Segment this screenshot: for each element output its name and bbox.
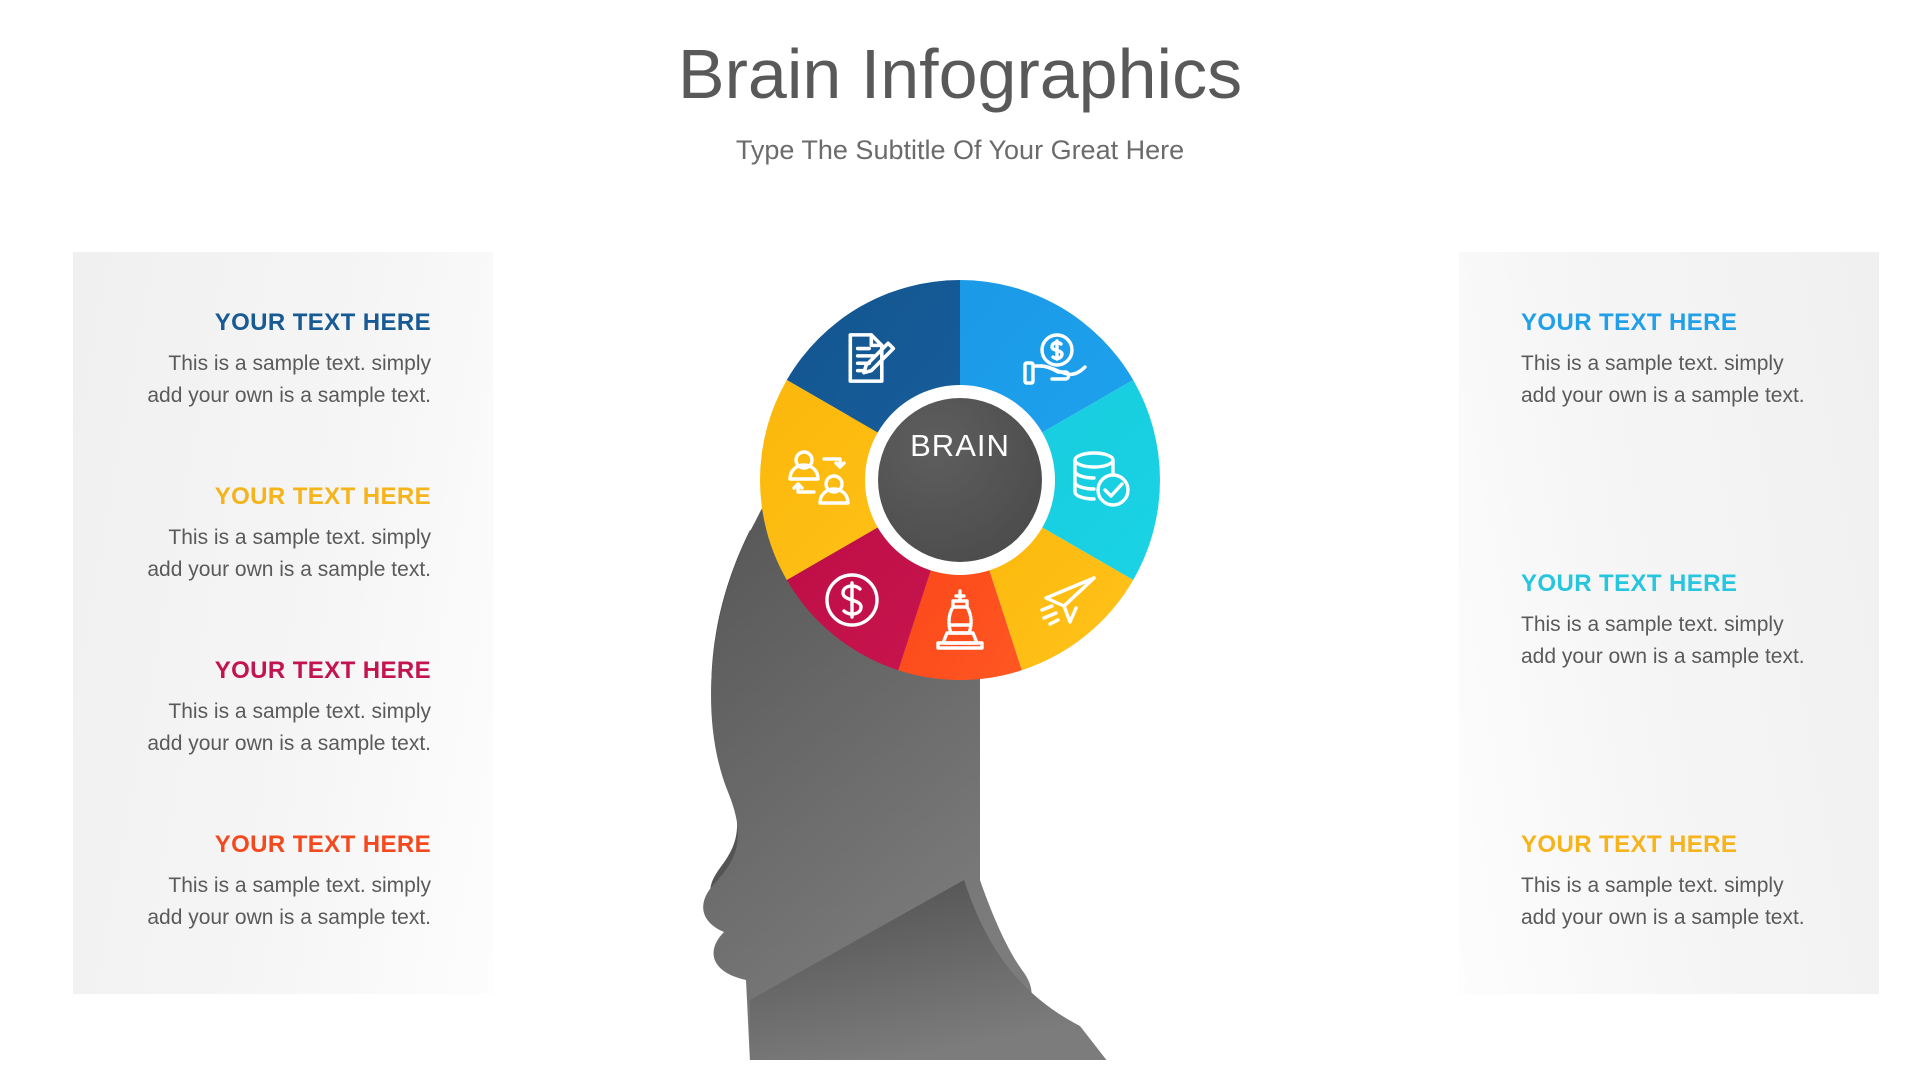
list-item[interactable]: YOUR TEXT HERE This is a sample text. si…	[73, 832, 493, 934]
entry-body: This is a sample text. simply add your o…	[73, 348, 431, 412]
list-item[interactable]: YOUR TEXT HERE This is a sample text. si…	[73, 310, 493, 412]
entry-body-line: This is a sample text. simply	[73, 348, 431, 380]
entry-body: This is a sample text. simply add your o…	[1521, 870, 1879, 934]
right-text-panel: YOUR TEXT HERE This is a sample text. si…	[1459, 252, 1879, 994]
entry-body-line: This is a sample text. simply	[73, 522, 431, 554]
list-item[interactable]: YOUR TEXT HERE This is a sample text. si…	[1459, 310, 1879, 412]
left-text-panel: YOUR TEXT HERE This is a sample text. si…	[73, 252, 493, 994]
slide-canvas: Brain Infographics Type The Subtitle Of …	[0, 0, 1920, 1080]
entry-heading: YOUR TEXT HERE	[1521, 310, 1879, 336]
entry-heading: YOUR TEXT HERE	[73, 484, 431, 510]
entry-heading: YOUR TEXT HERE	[1521, 571, 1879, 597]
entry-heading: YOUR TEXT HERE	[73, 658, 431, 684]
list-item[interactable]: YOUR TEXT HERE This is a sample text. si…	[1459, 571, 1879, 673]
brain-wheel-graphic: BRAIN	[560, 240, 1360, 1060]
entry-body-line: This is a sample text. simply	[1521, 870, 1879, 902]
entry-body-line: add your own is a sample text.	[73, 902, 431, 934]
list-item[interactable]: YOUR TEXT HERE This is a sample text. si…	[73, 484, 493, 586]
entry-body: This is a sample text. simply add your o…	[1521, 348, 1879, 412]
entry-heading: YOUR TEXT HERE	[1521, 832, 1879, 858]
entry-heading: YOUR TEXT HERE	[73, 832, 431, 858]
entry-body-line: add your own is a sample text.	[73, 380, 431, 412]
list-item[interactable]: YOUR TEXT HERE This is a sample text. si…	[73, 658, 493, 760]
entry-body-line: This is a sample text. simply	[1521, 609, 1879, 641]
slide-header: Brain Infographics Type The Subtitle Of …	[0, 0, 1920, 166]
entry-body-line: add your own is a sample text.	[1521, 380, 1879, 412]
page-subtitle: Type The Subtitle Of Your Great Here	[0, 135, 1920, 166]
entry-body-line: This is a sample text. simply	[1521, 348, 1879, 380]
entry-body-line: add your own is a sample text.	[73, 554, 431, 586]
entry-body-line: This is a sample text. simply	[73, 870, 431, 902]
entry-body-line: This is a sample text. simply	[73, 696, 431, 728]
entry-heading: YOUR TEXT HERE	[73, 310, 431, 336]
entry-body-line: add your own is a sample text.	[1521, 902, 1879, 934]
list-item[interactable]: YOUR TEXT HERE This is a sample text. si…	[1459, 832, 1879, 934]
entry-body: This is a sample text. simply add your o…	[73, 870, 431, 934]
page-title: Brain Infographics	[0, 36, 1920, 113]
entry-body-line: add your own is a sample text.	[73, 728, 431, 760]
entry-body: This is a sample text. simply add your o…	[73, 696, 431, 760]
hub-circle[interactable]	[878, 398, 1042, 562]
entry-body: This is a sample text. simply add your o…	[1521, 609, 1879, 673]
entry-body-line: add your own is a sample text.	[1521, 641, 1879, 673]
entry-body: This is a sample text. simply add your o…	[73, 522, 431, 586]
segmented-wheel	[760, 280, 1160, 680]
